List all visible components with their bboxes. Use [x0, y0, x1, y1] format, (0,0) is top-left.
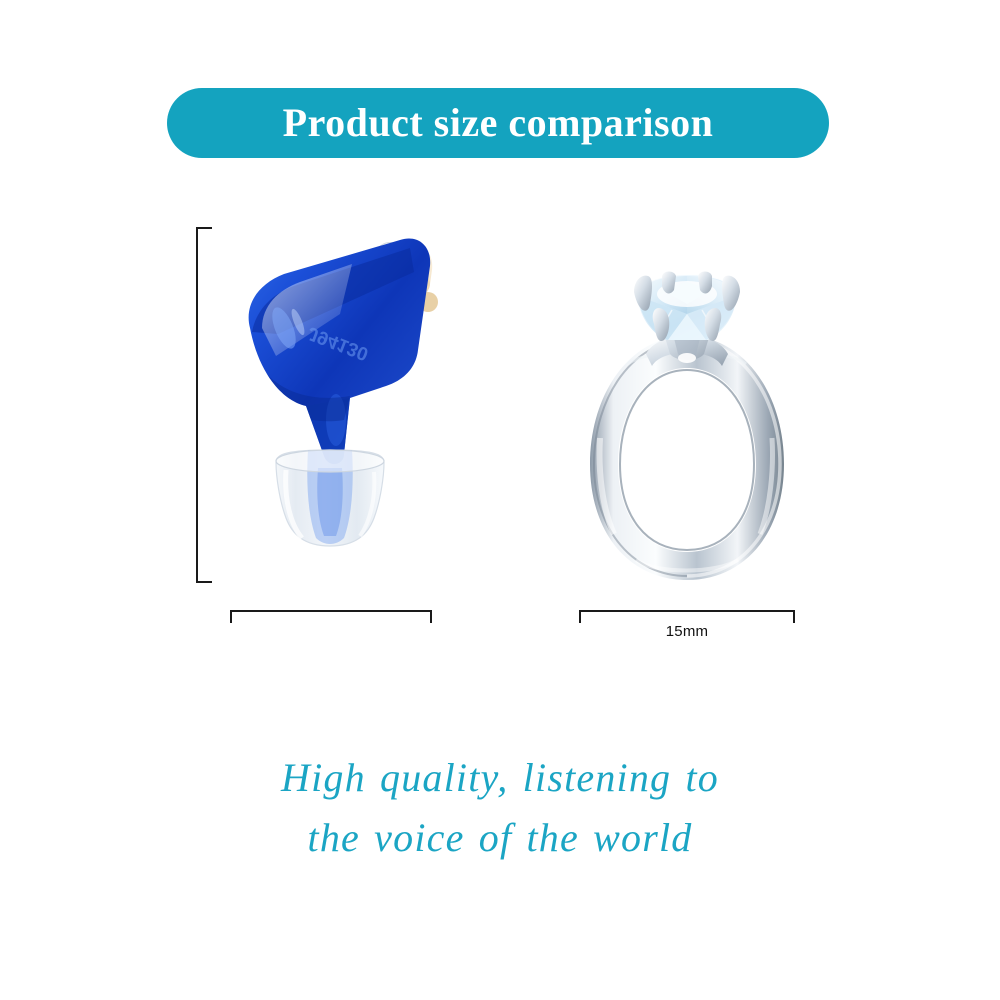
page-title: Product size comparison [283, 103, 714, 143]
ring-band [590, 336, 784, 580]
ring-width-dimension-tick-left [579, 610, 581, 623]
silicone-dome [276, 450, 384, 546]
width-dimension-tick-right [430, 610, 432, 623]
width-dimension-tick-left [230, 610, 232, 623]
ring-width-dimension-tick-right [793, 610, 795, 623]
width-dimension-line [230, 610, 432, 612]
hearing-aid-image: J94130 [232, 210, 447, 585]
product-comparison-page: Product size comparison [0, 0, 1000, 1000]
comparison-stage: J94130 [0, 190, 1000, 660]
height-dimension-line [196, 227, 198, 583]
height-dimension-tick-bottom [196, 581, 212, 583]
footer-tagline: High quality, listening to the voice of … [0, 748, 1000, 868]
page-title-banner: Product size comparison [167, 88, 829, 158]
diamond-ring-image [576, 270, 798, 590]
diamond-gem [638, 274, 736, 340]
ring-width-dimension-line [579, 610, 795, 612]
tagline-line-1: High quality, listening to [0, 748, 1000, 808]
ring-width-label: 15mm [579, 623, 795, 640]
hearing-aid-shell: J94130 [248, 238, 430, 464]
tagline-line-2: the voice of the world [0, 808, 1000, 868]
height-dimension-tick-top [196, 227, 212, 229]
